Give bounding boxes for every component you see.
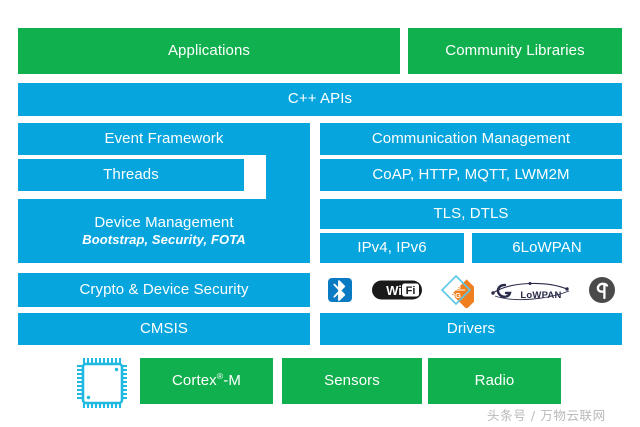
layer-cpp-apis-label: C++ APIs	[288, 91, 352, 108]
layer-cpp-apis[interactable]: C++ APIs	[18, 83, 622, 116]
hardware-sensors-label: Sensors	[324, 373, 380, 390]
bluetooth-icon[interactable]	[320, 277, 360, 303]
layer-community-libraries-label: Community Libraries	[445, 43, 584, 60]
svg-text:Wi: Wi	[386, 283, 402, 298]
layer-ip[interactable]: IPv4, IPv6	[320, 233, 464, 263]
radio-technologies-strip: Wi Fi 2G 3G LoWPAN	[320, 273, 622, 307]
layer-tls[interactable]: TLS, DTLS	[320, 199, 622, 229]
layer-drivers-label: Drivers	[447, 321, 495, 338]
hardware-radio-label: Radio	[475, 373, 515, 390]
layer-tls-label: TLS, DTLS	[433, 206, 508, 223]
layer-event-framework[interactable]: Event Framework	[18, 123, 310, 155]
svg-text:3G: 3G	[451, 291, 461, 300]
layer-ip-label: IPv4, IPv6	[357, 240, 426, 257]
layer-community-libraries[interactable]: Community Libraries	[408, 28, 622, 74]
layer-drivers[interactable]: Drivers	[320, 313, 622, 345]
layer-protocols-label: CoAP, HTTP, MQTT, LWM2M	[372, 167, 569, 184]
wifi-icon[interactable]: Wi Fi	[369, 278, 425, 302]
layer-communication-management[interactable]: Communication Management	[320, 123, 622, 155]
hardware-cortex-m[interactable]: Cortex®-M	[140, 358, 273, 404]
layer-communication-management-label: Communication Management	[372, 131, 570, 148]
layer-crypto-device-security-label: Crypto & Device Security	[79, 282, 248, 299]
event-framework-right-arm	[266, 155, 310, 200]
layer-crypto-device-security[interactable]: Crypto & Device Security	[18, 273, 310, 307]
layer-cmsis-label: CMSIS	[140, 321, 188, 338]
hardware-cortex-m-label: Cortex®-M	[172, 373, 241, 390]
layer-threads-label: Threads	[103, 167, 159, 184]
sixlowpan-icon[interactable]: LoWPAN	[488, 277, 574, 303]
svg-text:LoWPAN: LoWPAN	[520, 290, 561, 301]
watermark: 头条号 / 万物云联网	[487, 405, 606, 424]
layer-device-management-label: Device Management	[94, 215, 233, 232]
cortex-m-suffix: -M	[223, 372, 241, 389]
layer-protocols[interactable]: CoAP, HTTP, MQTT, LWM2M	[320, 159, 622, 191]
layer-cmsis[interactable]: CMSIS	[18, 313, 310, 345]
cellular-icon[interactable]: 2G 3G	[433, 272, 479, 308]
layer-applications[interactable]: Applications	[18, 28, 400, 74]
hardware-sensors[interactable]: Sensors	[282, 358, 422, 404]
thread-icon[interactable]	[582, 276, 622, 304]
svg-text:Fi: Fi	[405, 285, 415, 297]
layer-6lowpan[interactable]: 6LoWPAN	[472, 233, 622, 263]
layer-threads[interactable]: Threads	[18, 159, 244, 191]
layer-6lowpan-label: 6LoWPAN	[512, 240, 582, 257]
cortex-m-base: Cortex	[172, 372, 217, 389]
layer-device-management-sublabel: Bootstrap, Security, FOTA	[82, 233, 246, 248]
hardware-radio[interactable]: Radio	[428, 358, 561, 404]
microcontroller-chip-icon	[74, 355, 132, 411]
layer-device-management[interactable]: Device Management Bootstrap, Security, F…	[18, 199, 310, 263]
layer-applications-label: Applications	[168, 43, 250, 60]
layer-event-framework-label: Event Framework	[104, 131, 223, 148]
architecture-diagram: Applications Community Libraries C++ API…	[0, 0, 640, 427]
